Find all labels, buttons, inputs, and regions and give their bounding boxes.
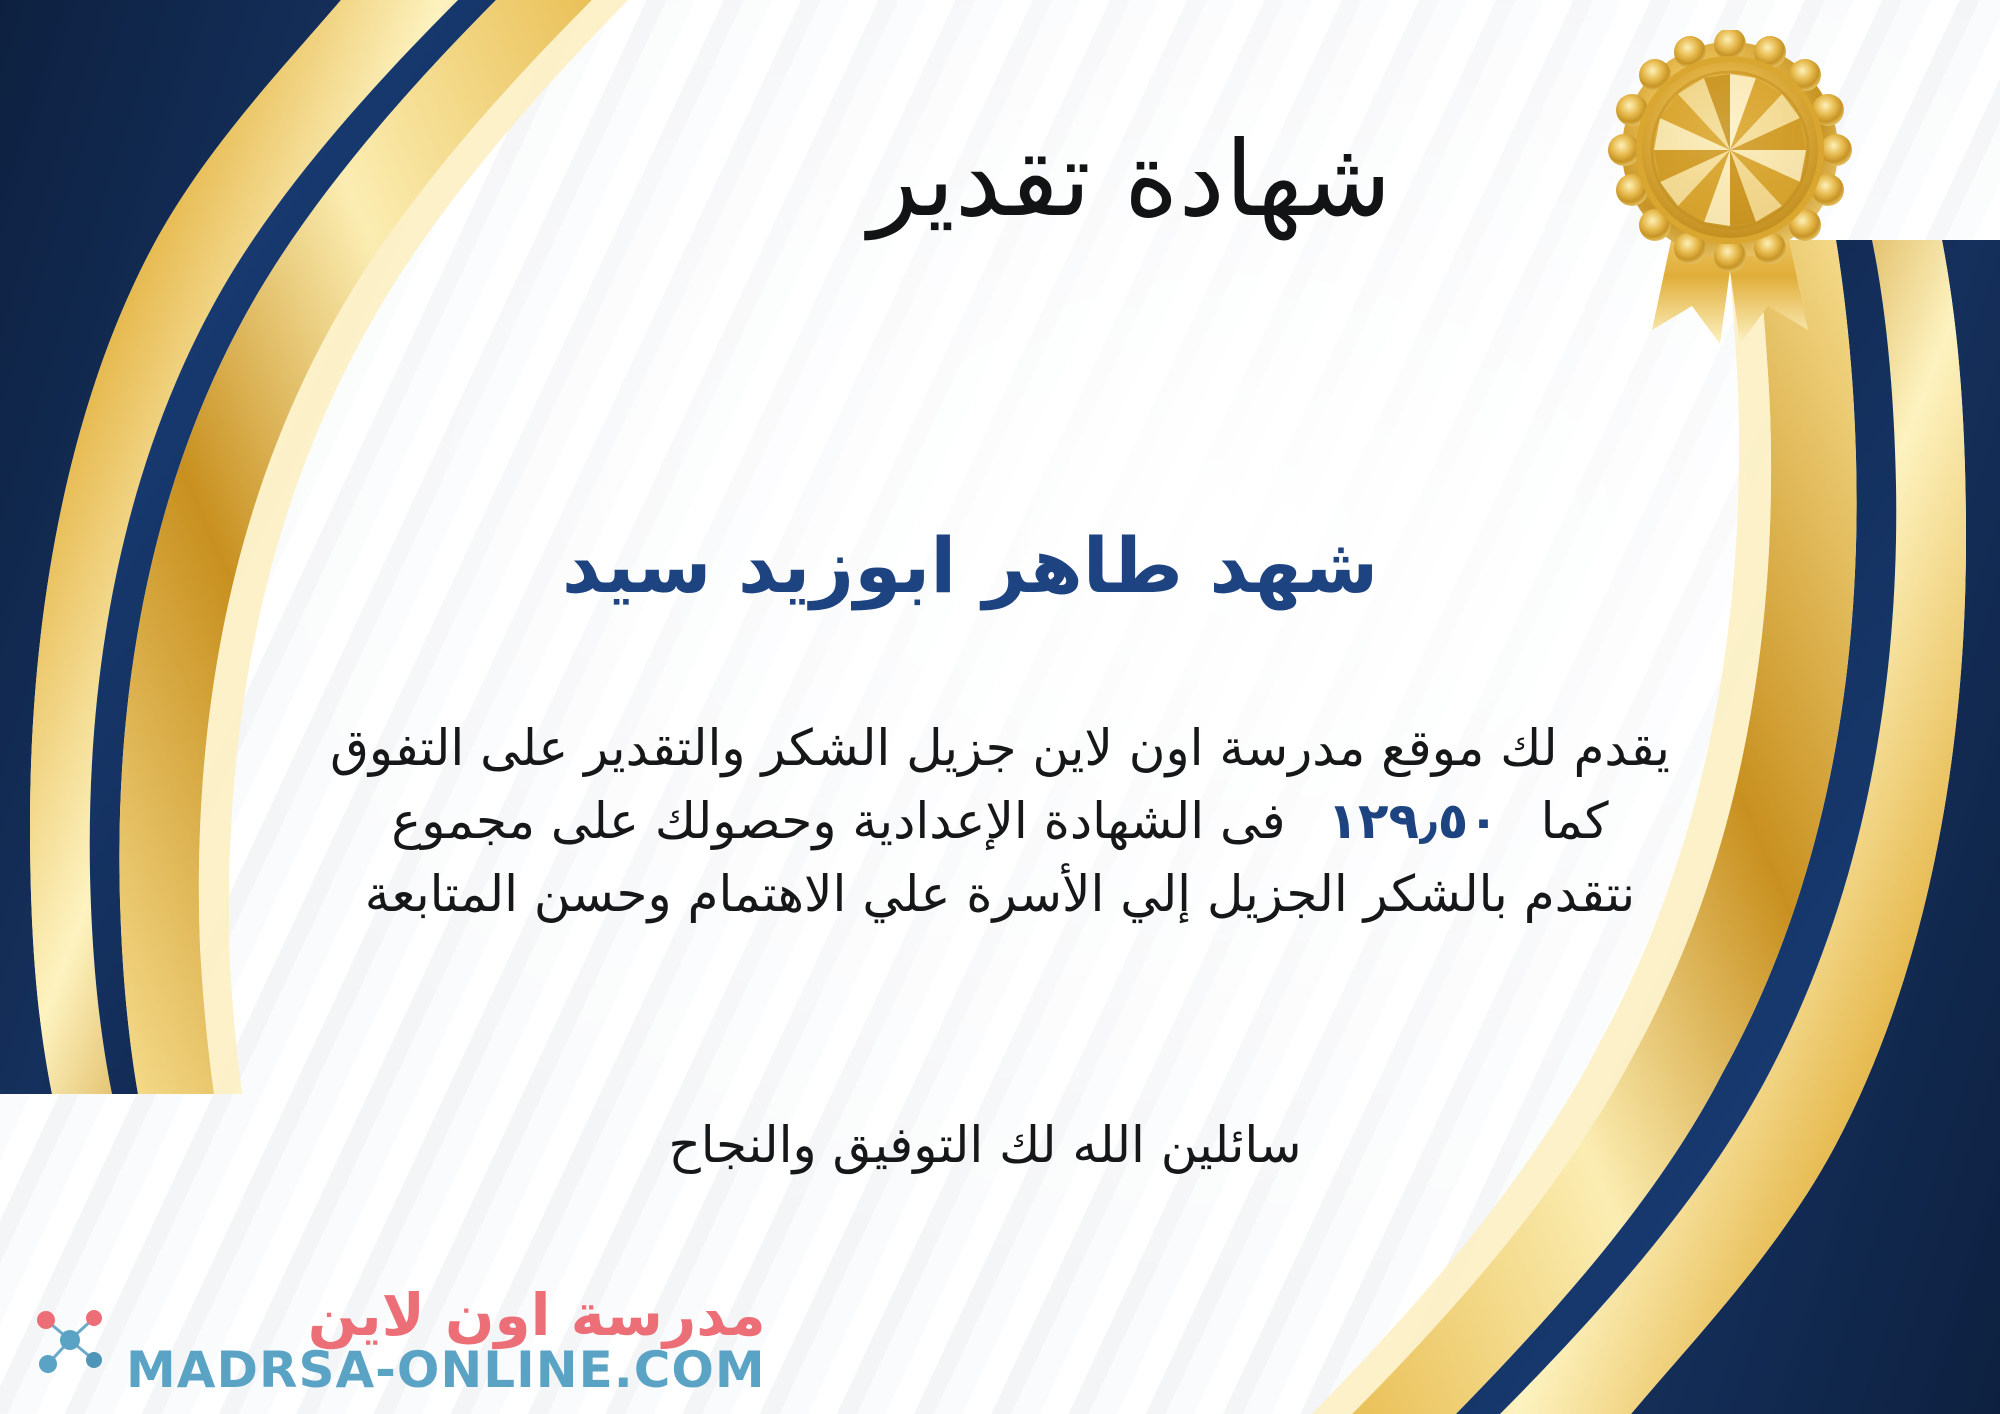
certificate-content: شهادة تقدير شهد طاهر ابوزيد سيد يقدم لك …: [0, 0, 2000, 1414]
body-line-3: نتقدم بالشكر الجزيل إلي الأسرة علي الاهت…: [60, 858, 1940, 931]
page-title: شهادة تقدير: [0, 120, 2000, 240]
recipient-name: شهد طاهر ابوزيد سيد: [0, 520, 2000, 611]
body-line-2-suffix: كما: [1541, 792, 1609, 850]
brand-logo[interactable]: مدرسة اون لاين MADRSA-ONLINE.COM: [26, 1286, 766, 1397]
body-line-1: يقدم لك موقع مدرسة اون لاين جزيل الشكر و…: [60, 712, 1940, 785]
certificate: شهادة تقدير شهد طاهر ابوزيد سيد يقدم لك …: [0, 0, 2000, 1414]
body-line-2-prefix: فى الشهادة الإعدادية وحصولك على مجموع: [391, 792, 1285, 850]
network-nodes-icon: [26, 1298, 112, 1384]
logo-text: مدرسة اون لاين MADRSA-ONLINE.COM: [126, 1286, 766, 1397]
body-line-2: كما ١٢٩٫٥٠ فى الشهادة الإعدادية وحصولك ع…: [60, 785, 1940, 858]
logo-arabic-name: مدرسة اون لاين: [308, 1286, 766, 1344]
logo-website-url: MADRSA-ONLINE.COM: [126, 1344, 766, 1397]
grade-value: ١٢٩٫٥٠: [1301, 785, 1524, 858]
closing-line: سائلين الله لك التوفيق والنجاح: [0, 1110, 2000, 1180]
certificate-body: يقدم لك موقع مدرسة اون لاين جزيل الشكر و…: [60, 712, 1940, 931]
